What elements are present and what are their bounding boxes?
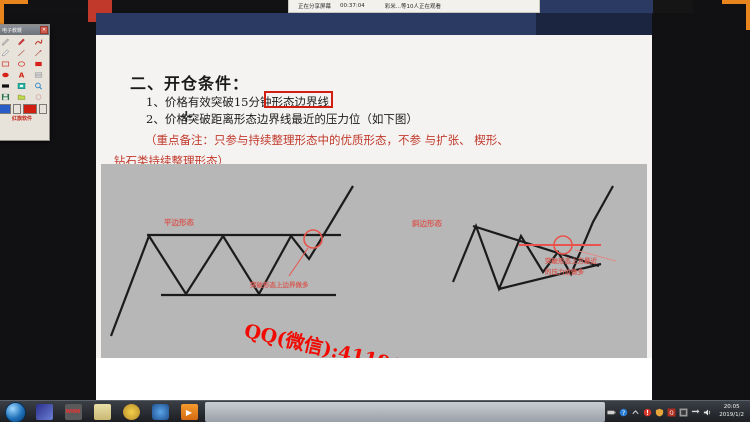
taskbar-item-win6[interactable]: WIN6 <box>59 402 87 422</box>
desktop-screen: 正在分享屏幕 00:37:04 彩米...等10人正在观看 二、开仓条件： 1、… <box>0 0 750 422</box>
start-orb[interactable] <box>1 402 29 422</box>
slide-heading: 二、开仓条件： <box>130 70 249 94</box>
share-viewers-label: 彩米...等10人正在观看 <box>385 2 441 10</box>
undo-icon[interactable] <box>31 92 46 102</box>
volume-icon[interactable] <box>703 408 712 417</box>
slide-body: 二、开仓条件： 1、价格有效突破15分钟形态边界线 2、价格突破距离形态边界线最… <box>96 35 652 400</box>
windows-taskbar: WIN6 ▶ ? Q 20:05 2019/1/2 <box>0 400 750 422</box>
svg-text:?: ? <box>622 409 625 416</box>
color-swatch-red[interactable] <box>23 104 37 114</box>
annotation-toolbar-footer: 红旗软件 <box>0 114 49 122</box>
screen-share-bar[interactable]: 正在分享屏幕 00:37:04 彩米...等10人正在观看 <box>288 0 540 13</box>
gold-coin-icon <box>123 404 140 420</box>
taskbar-empty-area <box>205 402 605 422</box>
taskbar-buttons: WIN6 ▶ <box>0 402 203 422</box>
network-icon[interactable] <box>691 408 700 417</box>
pattern-diagram: 平边形态 斜边形态 突破形态上边界做多 突破形态上方最近 的压力位做多 QQ(微… <box>101 164 647 372</box>
orange-corner-top-right <box>722 0 750 30</box>
folder-icon <box>94 404 111 420</box>
slide-note-1: （重点备注：只参与持续整理形态中的优质形态，不参 与扩张、 楔形、 <box>145 132 509 148</box>
text-tool-icon[interactable]: A <box>14 70 29 80</box>
app-icon[interactable] <box>679 408 688 417</box>
share-status-label: 正在分享屏幕 <box>298 2 331 10</box>
clock-time: 20:05 <box>719 404 744 412</box>
slide-header-band-right <box>536 13 652 35</box>
media-icon <box>36 404 53 420</box>
highlight-box <box>264 91 333 108</box>
flat-pattern-price-line <box>111 186 353 336</box>
color-dropdown-blue[interactable] <box>13 104 21 114</box>
taskbar-item-browser[interactable] <box>146 402 174 422</box>
marker-icon[interactable] <box>31 37 46 47</box>
right-annotation: 突破形态上方最近 的压力位做多 <box>545 256 597 278</box>
color-swatch-blue[interactable] <box>0 104 11 114</box>
shield-icon[interactable] <box>655 408 664 417</box>
annotation-tool-grid: A <box>0 35 49 102</box>
browser-icon <box>152 404 169 420</box>
orange-corner-top-left <box>0 0 28 26</box>
pencil-icon[interactable] <box>0 37 13 47</box>
rectangle-icon[interactable] <box>0 59 13 69</box>
arrow-icon[interactable] <box>31 48 46 58</box>
alert-icon[interactable] <box>643 408 652 417</box>
mouse-cursor: ✛ <box>180 110 193 125</box>
top-dark-strip <box>0 0 288 13</box>
magnifier-icon[interactable] <box>31 81 46 91</box>
svg-text:A: A <box>19 71 25 79</box>
color-swatch-row <box>0 102 49 114</box>
chevron-up-icon[interactable] <box>631 408 640 417</box>
annotation-toolbar-window[interactable]: 电子教鞭 ✕ A 红旗软 <box>0 24 50 141</box>
save-icon[interactable] <box>0 92 13 102</box>
filled-rect-icon[interactable] <box>31 59 46 69</box>
taskbar-item-media[interactable] <box>30 402 58 422</box>
annotation-toolbar-titlebar[interactable]: 电子教鞭 ✕ <box>0 25 49 35</box>
svg-text:Q: Q <box>670 410 674 416</box>
left-annotation: 突破形态上边界做多 <box>250 280 309 291</box>
color-dropdown-red[interactable] <box>39 104 47 114</box>
screen-icon[interactable] <box>31 70 46 80</box>
taskbar-item-player[interactable]: ▶ <box>175 402 203 422</box>
ellipse-icon[interactable] <box>14 59 29 69</box>
battery-icon[interactable] <box>607 408 616 417</box>
breakout-circle-left <box>304 230 322 248</box>
flat-pattern-label: 平边形态 <box>164 217 194 228</box>
open-icon[interactable] <box>14 92 29 102</box>
slope-pattern-label: 斜边形态 <box>412 218 442 229</box>
presentation-slide: 二、开仓条件： 1、价格有效突破15分钟形态边界线 2、价格突破距离形态边界线最… <box>96 13 652 400</box>
start-orb-icon <box>5 402 26 422</box>
line-icon[interactable] <box>14 48 29 58</box>
right-annotation-line2: 的压力位做多 <box>545 267 597 278</box>
slide-header-band <box>96 13 536 35</box>
spotlight-icon[interactable] <box>14 81 29 91</box>
taskbar-item-2017[interactable] <box>117 402 145 422</box>
highlighter-icon[interactable] <box>14 37 29 47</box>
close-icon[interactable]: ✕ <box>40 26 48 34</box>
right-annotation-line1: 突破形态上方最近 <box>545 256 597 267</box>
win6-icon: WIN6 <box>65 404 82 420</box>
qq-icon[interactable]: Q <box>667 408 676 417</box>
clock-date: 2019/1/2 <box>719 412 744 420</box>
top-navy-strip-2 <box>653 0 693 13</box>
taskbar-clock[interactable]: 20:05 2019/1/2 <box>715 404 748 420</box>
player-icon: ▶ <box>181 404 198 420</box>
taskbar-item-folder[interactable] <box>88 402 116 422</box>
blackboard-icon[interactable] <box>0 81 13 91</box>
top-navy-strip <box>540 0 653 13</box>
eraser-icon[interactable] <box>0 48 13 58</box>
left-annotation-leader <box>289 248 308 276</box>
annotation-toolbar-title: 电子教鞭 <box>0 27 22 34</box>
system-tray: ? Q 20:05 2019/1/2 <box>607 404 750 420</box>
help-icon[interactable]: ? <box>619 408 628 417</box>
filled-ellipse-icon[interactable] <box>0 70 13 80</box>
slide-footer-area <box>96 358 652 400</box>
share-timer: 00:37:04 <box>340 3 365 9</box>
